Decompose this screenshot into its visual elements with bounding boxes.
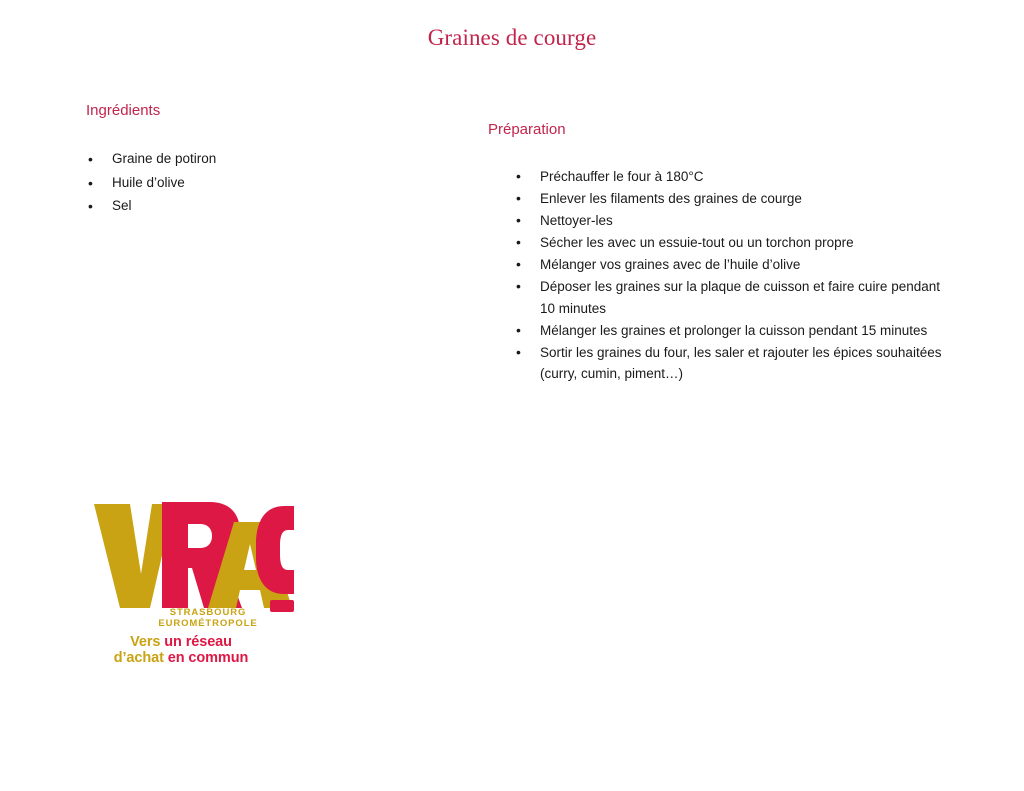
list-item: Nettoyer-les [510, 210, 942, 232]
list-item: Sortir les graines du four, les saler et… [510, 342, 942, 385]
logo-tagline-part-4: en commun [168, 650, 248, 666]
list-item: Mélanger les graines et prolonger la cui… [510, 320, 942, 342]
vrac-wordmark-icon [84, 500, 294, 612]
list-item: Sel [82, 195, 372, 218]
ingredients-list: Graine de potiron Huile d’olive Sel [82, 148, 372, 219]
logo-tagline-part-3: d’achat [114, 650, 168, 666]
page-title: Graines de courge [0, 24, 1024, 52]
document-page: Graines de courge Ingrédients Graine de … [0, 0, 1024, 791]
logo-subtitle-line1: STRASBOURG [170, 607, 247, 618]
logo-tagline-part-2: un réseau [164, 634, 232, 650]
list-item: Enlever les filaments des graines de cou… [510, 188, 942, 210]
list-item: Préchauffer le four à 180°C [510, 166, 942, 188]
ingredients-heading: Ingrédients [86, 101, 160, 120]
list-item: Sécher les avec un essuie-tout ou un tor… [510, 232, 942, 254]
preparation-list: Préchauffer le four à 180°C Enlever les … [510, 166, 942, 385]
logo-tagline-part-1: Vers [130, 634, 164, 650]
preparation-heading: Préparation [488, 120, 566, 139]
logo-tagline: Vers un réseau d’achat en commun [84, 634, 278, 666]
list-item: Graine de potiron [82, 148, 372, 171]
list-item: Déposer les graines sur la plaque de cui… [510, 276, 942, 319]
logo-subtitle-line2: EUROMÉTROPOLE [158, 618, 257, 629]
vrac-logo: STRASBOURG EUROMÉTROPOLE Vers un réseau … [84, 500, 294, 672]
list-item: Huile d’olive [82, 172, 372, 195]
logo-subtitle: STRASBOURG EUROMÉTROPOLE [122, 608, 294, 629]
list-item: Mélanger vos graines avec de l’huile d’o… [510, 254, 942, 276]
